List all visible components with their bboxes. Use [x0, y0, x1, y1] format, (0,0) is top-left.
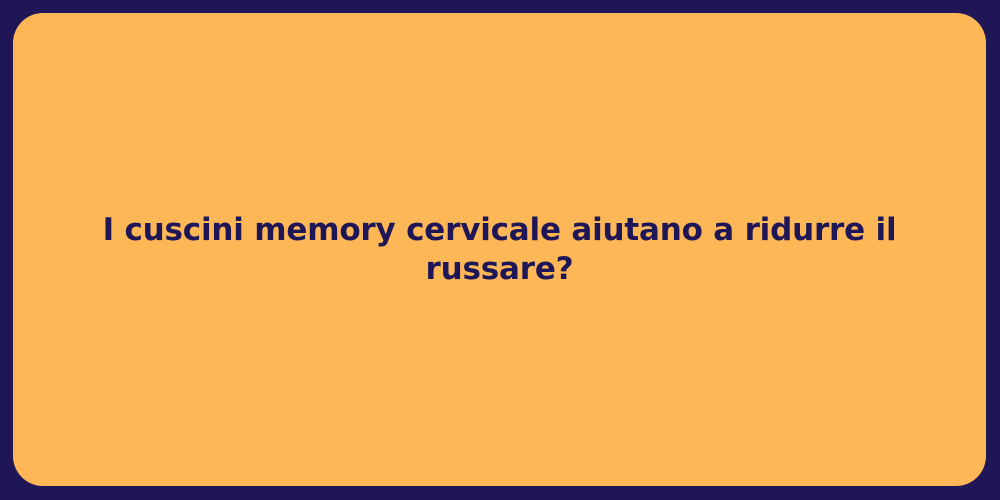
question-card-surface: I cuscini memory cervicale aiutano a rid… [13, 13, 986, 486]
question-card-frame: I cuscini memory cervicale aiutano a rid… [0, 0, 1000, 500]
question-heading: I cuscini memory cervicale aiutano a rid… [53, 211, 946, 289]
